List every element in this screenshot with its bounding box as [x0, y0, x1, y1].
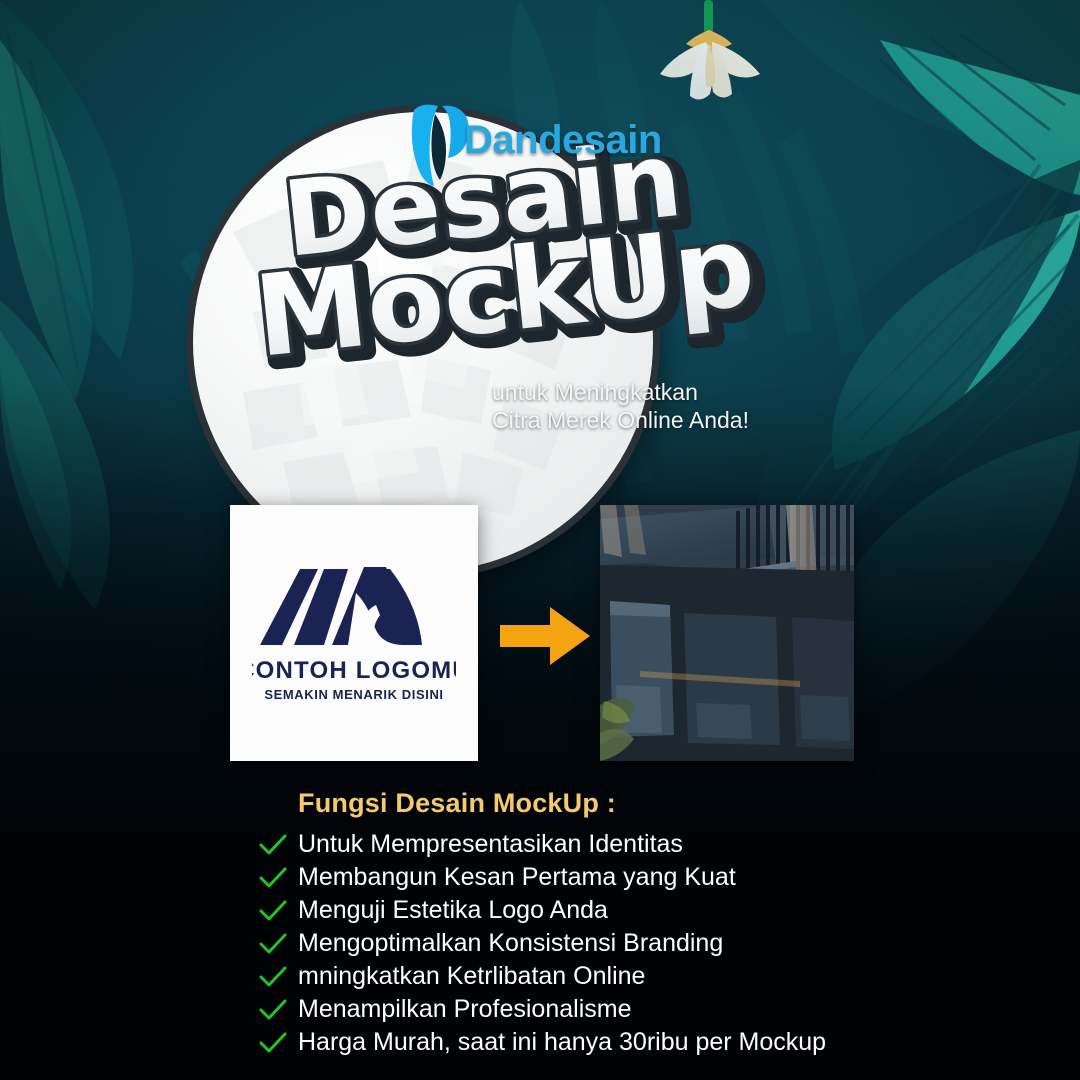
benefits-section: Fungsi Desain MockUp : Untuk Mempresenta…: [258, 788, 1038, 1059]
check-icon: [258, 965, 288, 989]
benefit-item: mningkatkan Ketrlibatan Online: [258, 960, 1038, 993]
benefit-item: Harga Murah, saat ini hanya 30ribu per M…: [258, 1026, 1038, 1059]
hero-subtitle-line2: Citra Merek Online Anda!: [492, 406, 749, 434]
hero-subtitle-line1: untuk Meningkatkan: [492, 378, 749, 406]
arrow-right-icon: [500, 605, 590, 667]
check-icon: [258, 932, 288, 956]
benefits-list: Untuk Mempresentasikan IdentitasMembangu…: [258, 828, 1038, 1059]
contoh-logomu-logo: CONTOH LOGOMU SEMAKIN MENARIK DISINI: [252, 553, 456, 713]
before-logo-card: CONTOH LOGOMU SEMAKIN MENARIK DISINI: [230, 505, 478, 761]
after-mockup-photo: CONTOH LOGOMU SEMAKIN MENARIK DISINI: [600, 505, 854, 761]
check-icon: [258, 998, 288, 1022]
logo-name: CONTOH LOGOMU: [252, 657, 456, 684]
benefit-label: Harga Murah, saat ini hanya 30ribu per M…: [298, 1028, 826, 1057]
benefit-item: Mengoptimalkan Konsistensi Branding: [258, 927, 1038, 960]
benefit-label: Membangun Kesan Pertama yang Kuat: [298, 863, 736, 892]
benefit-label: Menampilkan Profesionalisme: [298, 995, 631, 1024]
check-icon: [258, 833, 288, 857]
logo-tagline: SEMAKIN MENARIK DISINI: [264, 687, 443, 702]
benefit-label: Mengoptimalkan Konsistensi Branding: [298, 929, 723, 958]
benefit-item: Untuk Mempresentasikan Identitas: [258, 828, 1038, 861]
benefits-heading: Fungsi Desain MockUp :: [298, 788, 1038, 819]
building-signage-photo: CONTOH LOGOMU SEMAKIN MENARIK DISINI: [600, 505, 854, 761]
benefit-item: Menampilkan Profesionalisme: [258, 993, 1038, 1026]
benefit-label: mningkatkan Ketrlibatan Online: [298, 962, 645, 991]
check-icon: [258, 899, 288, 923]
hero-subtitle: untuk Meningkatkan Citra Merek Online An…: [492, 378, 749, 434]
brand-name: Dandesain: [464, 118, 662, 163]
benefit-item: Membangun Kesan Pertama yang Kuat: [258, 861, 1038, 894]
benefit-label: Untuk Mempresentasikan Identitas: [298, 830, 683, 859]
poster-canvas: Dandesain Desain Desain MockUp MockUp un…: [0, 0, 1080, 1080]
benefit-label: Menguji Estetika Logo Anda: [298, 896, 608, 925]
check-icon: [258, 1031, 288, 1055]
check-icon: [258, 866, 288, 890]
benefit-item: Menguji Estetika Logo Anda: [258, 894, 1038, 927]
